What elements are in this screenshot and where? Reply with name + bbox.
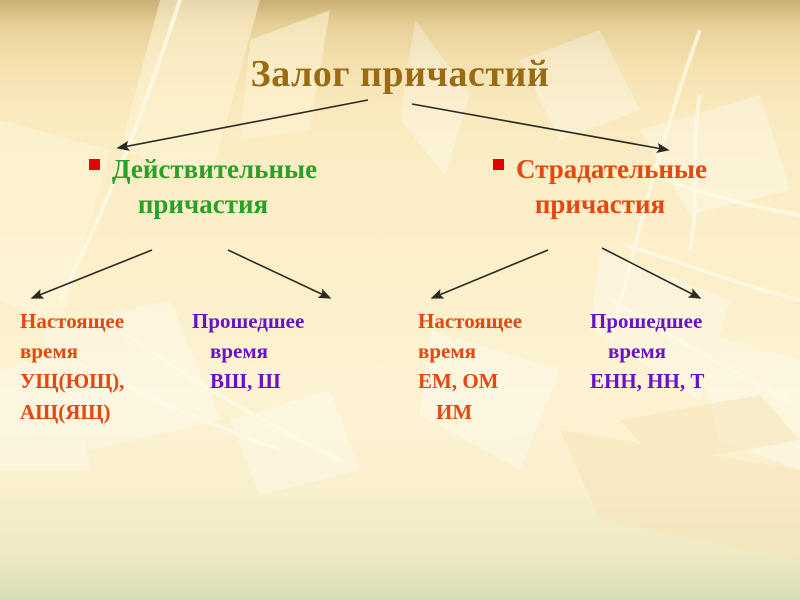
column-passive-present[interactable]: Настоящее время ЕМ, ОМ ИМ <box>418 306 522 427</box>
branch-active-participles[interactable]: Действительные причастия <box>18 152 388 221</box>
arrow-passive-to-past <box>602 248 700 298</box>
passive-present-suffix-line1: ЕМ, ОМ <box>418 366 522 396</box>
branch-passive-label-line1: Страдательные <box>516 154 707 184</box>
active-past-suffix-line1: ВШ, Ш <box>192 366 304 396</box>
branch-active-label-line2: причастия <box>18 187 388 222</box>
arrow-active-to-present <box>32 250 152 298</box>
red-square-bullet-icon <box>493 159 504 170</box>
arrow-passive-to-present <box>432 250 548 298</box>
passive-past-tense-line2: время <box>590 336 704 366</box>
passive-past-tense-line1: Прошедшее <box>590 306 704 336</box>
active-present-suffix-line2: АЩ(ЯЩ) <box>20 397 124 427</box>
slide-canvas: Залог причастий Действительные причастия <box>0 0 800 600</box>
passive-past-suffix-line1: ЕНН, НН, Т <box>590 366 704 396</box>
column-active-present[interactable]: Настоящее время УЩ(ЮЩ), АЩ(ЯЩ) <box>20 306 124 427</box>
passive-present-tense-line1: Настоящее <box>418 306 522 336</box>
passive-present-suffix-line2: ИМ <box>418 397 522 427</box>
active-past-tense-line1: Прошедшее <box>192 306 304 336</box>
active-past-tense-line2: время <box>192 336 304 366</box>
branch-passive-participles[interactable]: Страдательные причастия <box>415 152 785 221</box>
active-present-suffix-line1: УЩ(ЮЩ), <box>20 366 124 396</box>
column-active-past[interactable]: Прошедшее время ВШ, Ш <box>192 306 304 397</box>
passive-present-tense-line2: время <box>418 336 522 366</box>
active-present-tense-line1: Настоящее <box>20 306 124 336</box>
arrow-title-to-active <box>118 100 368 148</box>
active-present-tense-line2: время <box>20 336 124 366</box>
branch-active-label-line1: Действительные <box>112 154 317 184</box>
red-square-bullet-icon <box>89 159 100 170</box>
arrow-title-to-passive <box>412 104 668 150</box>
branch-passive-label-line2: причастия <box>415 187 785 222</box>
page-title: Залог причастий <box>0 52 800 96</box>
arrow-active-to-past <box>228 250 330 298</box>
column-passive-past[interactable]: Прошедшее время ЕНН, НН, Т <box>590 306 704 397</box>
